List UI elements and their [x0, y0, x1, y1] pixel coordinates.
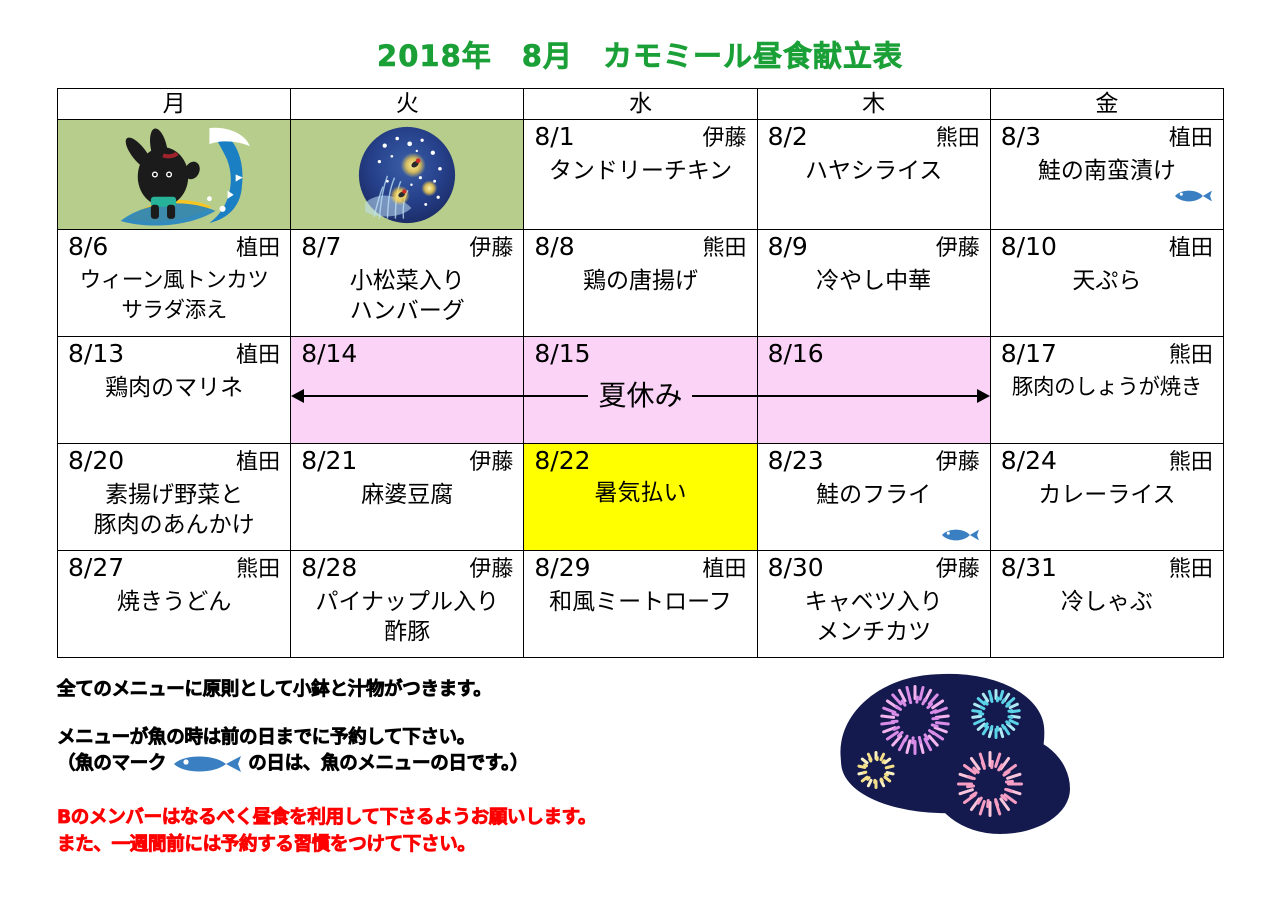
cell-header: 8/17熊田 — [991, 337, 1223, 371]
cell-staff: 植田 — [1169, 234, 1213, 264]
cell-header: 8/27熊田 — [58, 551, 290, 585]
calendar-cell-8-8[interactable]: 8/8熊田鶏の唐揚げ — [524, 230, 757, 337]
cell-staff: 植田 — [1169, 124, 1213, 154]
cell-date: 8/23 — [768, 446, 824, 476]
cell-menu: ウィーン風トンカツ サラダ添え — [58, 264, 290, 326]
cell-menu: 暑気払い — [524, 476, 756, 508]
summer-vacation-label: 夏休み — [588, 382, 692, 410]
cell-date: 8/1 — [534, 122, 574, 152]
note-red-line-2: また、一週間前には予約する習慣をつけて下さい。 — [57, 831, 817, 858]
cell-date: 8/28 — [301, 553, 357, 583]
cell-staff: 伊藤 — [469, 555, 513, 585]
cell-staff: 伊藤 — [936, 555, 980, 585]
cell-menu: 焼きうどん — [58, 585, 290, 617]
surfing-rabbit-icon — [58, 120, 290, 229]
cell-header: 8/13植田 — [58, 337, 290, 371]
fish-icon — [940, 526, 980, 544]
cell-staff: 伊藤 — [469, 448, 513, 478]
calendar-cell-8-17[interactable]: 8/17熊田豚肉のしょうが焼き — [990, 337, 1223, 444]
cell-header: 8/29植田 — [524, 551, 756, 585]
cell-date: 8/7 — [301, 232, 341, 262]
weekday-header-mon: 月 — [58, 89, 291, 120]
cell-menu: 鶏肉のマリネ — [58, 371, 290, 403]
firework-burst-icon — [879, 684, 951, 756]
cell-staff: 植田 — [703, 555, 747, 585]
fish-icon — [170, 753, 244, 775]
note-line-2: メニューが魚の時は前の日までに予約して下さい。 — [57, 725, 817, 751]
cell-date: 8/17 — [1001, 339, 1057, 369]
firework-burst-icon — [856, 750, 896, 790]
calendar-cell-vacation-8-16[interactable]: 8/16 — [757, 337, 990, 444]
note-line-3-after: の日は、魚のメニューの日です。） — [248, 751, 528, 777]
cell-date: 8/8 — [534, 232, 574, 262]
cell-header: 8/14 — [291, 337, 523, 369]
cell-date: 8/3 — [1001, 122, 1041, 152]
cell-menu: 和風ミートローフ — [524, 585, 756, 617]
vacation-rule — [758, 395, 977, 397]
weekday-header-fri: 金 — [990, 89, 1223, 120]
note-line-1: 全てのメニューに原則として小鉢と汁物がつきます。 — [57, 677, 817, 703]
arrow-right-icon — [977, 389, 990, 403]
notes-section: 全てのメニューに原則として小鉢と汁物がつきます。 メニューが魚の時は前の日までに… — [57, 677, 817, 858]
cell-menu: ハヤシライス — [758, 154, 990, 186]
cell-staff: 熊田 — [936, 124, 980, 154]
cell-menu: 鮭の南蛮漬け — [991, 154, 1223, 186]
calendar-week-row: 8/20植田素揚げ野菜と 豚肉のあんかけ8/21伊藤麻婆豆腐8/22暑気払い8/… — [58, 444, 1224, 551]
cell-header: 8/6植田 — [58, 230, 290, 264]
cell-header: 8/15 — [524, 337, 756, 369]
weekday-header-row: 月 火 水 木 金 — [58, 89, 1224, 120]
cell-date: 8/14 — [301, 339, 357, 369]
fireflies-night-circle-icon — [291, 120, 523, 229]
summer-vacation-band — [291, 384, 523, 408]
cell-date: 8/30 — [768, 553, 824, 583]
calendar-cell-illustration — [58, 120, 291, 230]
calendar-cell-8-23[interactable]: 8/23伊藤鮭のフライ — [757, 444, 990, 551]
cell-date: 8/31 — [1001, 553, 1057, 583]
cell-header: 8/28伊藤 — [291, 551, 523, 585]
cell-date: 8/29 — [534, 553, 590, 583]
cell-menu: 小松菜入り ハンバーグ — [291, 264, 523, 326]
calendar-cell-8-10[interactable]: 8/10植田天ぷら — [990, 230, 1223, 337]
cell-staff: 植田 — [236, 341, 280, 371]
calendar-cell-8-30[interactable]: 8/30伊藤キャベツ入り メンチカツ — [757, 551, 990, 658]
calendar-cell-8-27[interactable]: 8/27熊田焼きうどん — [58, 551, 291, 658]
cell-header: 8/23伊藤 — [758, 444, 990, 478]
firefly-circle-icon — [358, 126, 456, 224]
menu-calendar: 月 火 水 木 金 8/1伊藤タンドリーチキン8/2熊田ハヤシライス8/3植田鮭… — [57, 88, 1223, 658]
cell-date: 8/13 — [68, 339, 124, 369]
weekday-header-thu: 木 — [757, 89, 990, 120]
cell-header: 8/30伊藤 — [758, 551, 990, 585]
calendar-week-row: 8/1伊藤タンドリーチキン8/2熊田ハヤシライス8/3植田鮭の南蛮漬け — [58, 120, 1224, 230]
note-line-3: （魚のマーク の日は、魚のメニューの日です。） — [57, 751, 817, 777]
cell-staff: 熊田 — [1169, 555, 1213, 585]
cell-date: 8/6 — [68, 232, 108, 262]
calendar-cell-8-24[interactable]: 8/24熊田カレーライス — [990, 444, 1223, 551]
summer-vacation-band — [758, 384, 990, 408]
calendar-cell-8-22[interactable]: 8/22暑気払い — [524, 444, 757, 551]
cell-staff: 植田 — [236, 448, 280, 478]
cell-menu: キャベツ入り メンチカツ — [758, 585, 990, 647]
cell-header: 8/7伊藤 — [291, 230, 523, 264]
yukata-animals-group — [1010, 722, 1230, 827]
cell-header: 8/1伊藤 — [524, 120, 756, 154]
cell-staff: 熊田 — [236, 555, 280, 585]
arrow-left-icon — [291, 389, 304, 403]
cell-header: 8/8熊田 — [524, 230, 756, 264]
vacation-rule — [524, 395, 588, 397]
cell-header: 8/10植田 — [991, 230, 1223, 264]
cell-header: 8/21伊藤 — [291, 444, 523, 478]
cell-menu: 麻婆豆腐 — [291, 478, 523, 510]
calendar-cell-vacation-8-15[interactable]: 8/15夏休み — [524, 337, 757, 444]
cell-menu: タンドリーチキン — [524, 154, 756, 186]
cell-staff: 伊藤 — [469, 234, 513, 264]
weekday-header-tue: 火 — [291, 89, 524, 120]
cell-date: 8/10 — [1001, 232, 1057, 262]
cell-date: 8/24 — [1001, 446, 1057, 476]
weekday-header-wed: 水 — [524, 89, 757, 120]
cell-date: 8/27 — [68, 553, 124, 583]
calendar-cell-8-13[interactable]: 8/13植田鶏肉のマリネ — [58, 337, 291, 444]
cell-header: 8/20植田 — [58, 444, 290, 478]
note-line-3-before: （魚のマーク — [57, 751, 166, 777]
cell-menu: カレーライス — [991, 478, 1223, 510]
calendar-body: 8/1伊藤タンドリーチキン8/2熊田ハヤシライス8/3植田鮭の南蛮漬け8/6植田… — [58, 120, 1224, 658]
calendar-week-row: 8/13植田鶏肉のマリネ8/148/15夏休み8/168/17熊田豚肉のしょうが… — [58, 337, 1224, 444]
summer-vacation-band: 夏休み — [524, 384, 756, 408]
cell-date: 8/22 — [534, 446, 590, 476]
cell-staff: 熊田 — [703, 234, 747, 264]
calendar-cell-8-6[interactable]: 8/6植田ウィーン風トンカツ サラダ添え — [58, 230, 291, 337]
note-red-line-1: Bのメンバーはなるべく昼食を利用して下さるようお願いします。 — [57, 804, 817, 831]
cell-date: 8/21 — [301, 446, 357, 476]
calendar-cell-8-2[interactable]: 8/2熊田ハヤシライス — [757, 120, 990, 230]
vacation-rule — [304, 395, 523, 397]
cell-menu: 鶏の唐揚げ — [524, 264, 756, 296]
cell-menu: 冷しゃぶ — [991, 585, 1223, 617]
cell-date: 8/2 — [768, 122, 808, 152]
cell-menu: 冷やし中華 — [758, 264, 990, 296]
calendar-cell-8-1[interactable]: 8/1伊藤タンドリーチキン — [524, 120, 757, 230]
cell-date: 8/20 — [68, 446, 124, 476]
calendar-cell-vacation-8-14[interactable]: 8/14 — [291, 337, 524, 444]
calendar-cell-illustration — [291, 120, 524, 230]
calendar-cell-8-9[interactable]: 8/9伊藤冷やし中華 — [757, 230, 990, 337]
calendar-cell-8-21[interactable]: 8/21伊藤麻婆豆腐 — [291, 444, 524, 551]
cell-menu: 天ぷら — [991, 264, 1223, 296]
cell-staff: 伊藤 — [936, 234, 980, 264]
page-title: 2018年 8月 カモミール昼食献立表 — [0, 33, 1280, 75]
cell-header: 8/9伊藤 — [758, 230, 990, 264]
cell-date: 8/15 — [534, 339, 590, 369]
cell-staff: 植田 — [236, 234, 280, 264]
vacation-rule — [692, 395, 756, 397]
cell-staff: 伊藤 — [936, 448, 980, 478]
summer-festival-illustration — [810, 672, 1230, 872]
cell-date: 8/9 — [768, 232, 808, 262]
cell-menu: 豚肉のしょうが焼き — [991, 371, 1223, 403]
calendar-cell-8-20[interactable]: 8/20植田素揚げ野菜と 豚肉のあんかけ — [58, 444, 291, 551]
cell-header: 8/16 — [758, 337, 990, 369]
fish-icon — [1173, 187, 1213, 205]
calendar-cell-8-3[interactable]: 8/3植田鮭の南蛮漬け — [990, 120, 1223, 230]
calendar-cell-8-28[interactable]: 8/28伊藤パイナップル入り 酢豚 — [291, 551, 524, 658]
cell-menu: 鮭のフライ — [758, 478, 990, 510]
calendar-cell-8-29[interactable]: 8/29植田和風ミートローフ — [524, 551, 757, 658]
cell-menu: パイナップル入り 酢豚 — [291, 585, 523, 647]
cell-staff: 伊藤 — [703, 124, 747, 154]
cell-staff: 熊田 — [1169, 448, 1213, 478]
cell-header: 8/3植田 — [991, 120, 1223, 154]
cell-header: 8/2熊田 — [758, 120, 990, 154]
cell-header: 8/31熊田 — [991, 551, 1223, 585]
calendar-week-row: 8/27熊田焼きうどん8/28伊藤パイナップル入り 酢豚8/29植田和風ミートロ… — [58, 551, 1224, 658]
cell-header: 8/22 — [524, 444, 756, 476]
cell-staff: 熊田 — [1169, 341, 1213, 371]
cell-header: 8/24熊田 — [991, 444, 1223, 478]
calendar-cell-8-31[interactable]: 8/31熊田冷しゃぶ — [990, 551, 1223, 658]
calendar-cell-8-7[interactable]: 8/7伊藤小松菜入り ハンバーグ — [291, 230, 524, 337]
cell-date: 8/16 — [768, 339, 824, 369]
cell-menu: 素揚げ野菜と 豚肉のあんかけ — [58, 478, 290, 540]
calendar-week-row: 8/6植田ウィーン風トンカツ サラダ添え8/7伊藤小松菜入り ハンバーグ8/8熊… — [58, 230, 1224, 337]
